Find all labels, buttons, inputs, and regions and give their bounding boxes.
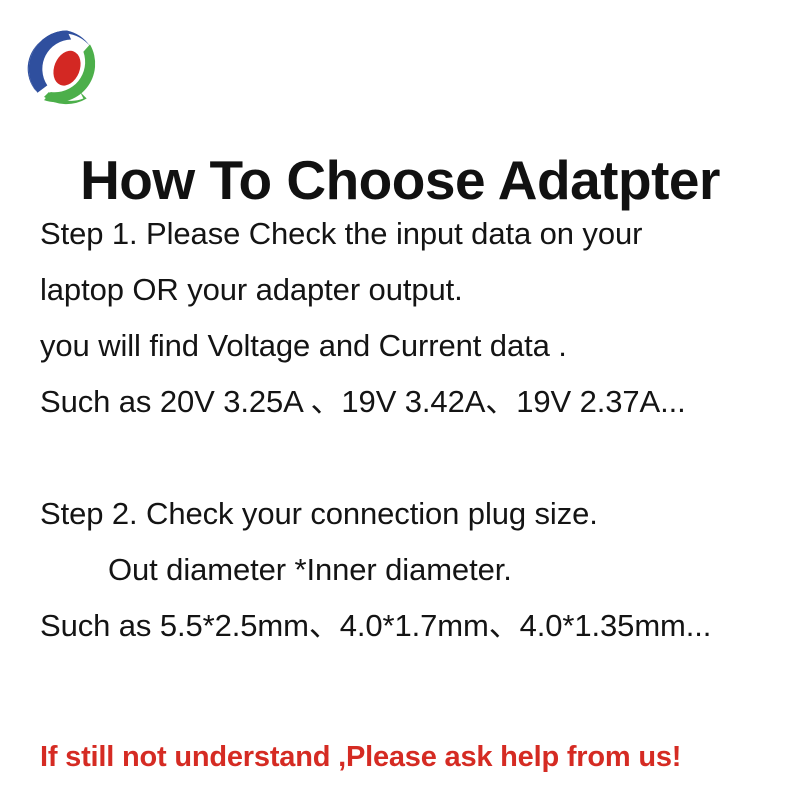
step1-line-3: you will find Voltage and Current data . — [40, 318, 790, 374]
help-callout: If still not understand ,Please ask help… — [40, 737, 800, 777]
step1-line-1: Step 1. Please Check the input data on y… — [40, 206, 790, 262]
step1-line-2: laptop OR your adapter output. — [40, 262, 790, 318]
step1-line-4: Such as 20V 3.25A 、19V 3.42A、19V 2.37A..… — [40, 374, 790, 430]
page-title: How To Choose Adatpter — [0, 149, 800, 211]
instructions-body: Step 1. Please Check the input data on y… — [40, 206, 790, 654]
logo-icon — [26, 28, 108, 110]
instruction-graphic: How To Choose Adatpter Step 1. Please Ch… — [0, 0, 800, 800]
step2-line-2: Out diameter *Inner diameter. — [40, 542, 790, 598]
paragraph-spacer — [40, 430, 790, 486]
step2-line-3: Such as 5.5*2.5mm、4.0*1.7mm、4.0*1.35mm..… — [40, 598, 790, 654]
step2-line-1: Step 2. Check your connection plug size. — [40, 486, 790, 542]
company-logo — [26, 28, 108, 110]
